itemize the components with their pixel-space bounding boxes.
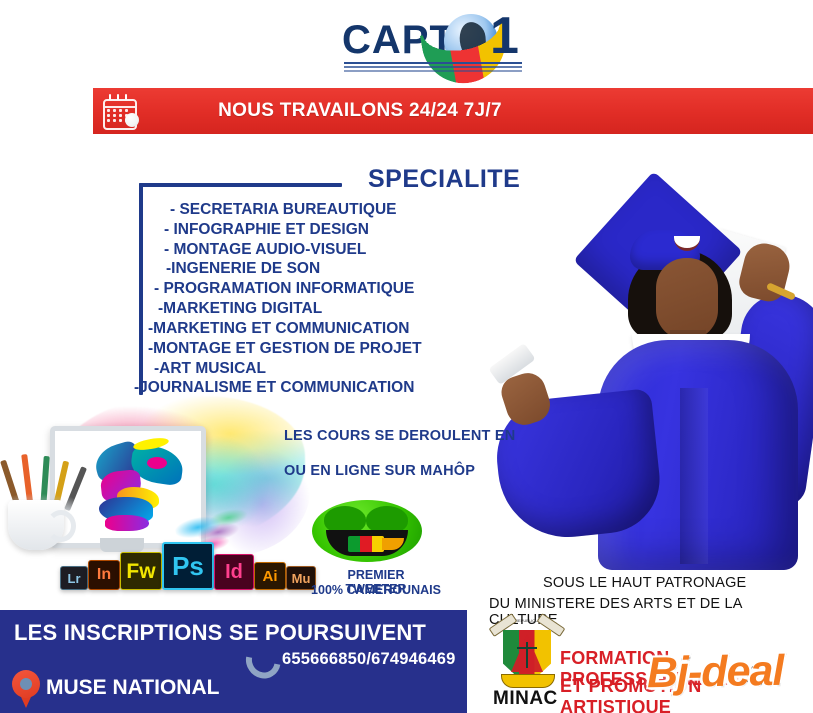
working-hours-banner: NOUS TRAVAILONS 24/24 7J/7 bbox=[93, 88, 813, 134]
graduate-student-photo bbox=[480, 188, 813, 570]
adobe-fireworks-icon: Fw bbox=[120, 552, 162, 590]
adobe-lightroom-icon: Lr bbox=[60, 566, 88, 590]
bj-deal-watermark: Bj-deal bbox=[647, 647, 784, 698]
green-smiley-icon bbox=[312, 500, 422, 562]
course-mode-line2: OU EN LIGNE SUR MAHÔP bbox=[284, 463, 475, 479]
banner-text: NOUS TRAVAILONS 24/24 7J/7 bbox=[137, 100, 813, 122]
poster-canvas: CAPT 1 NOUS TRAVAILONS 24/24 7J/7 SPECIA… bbox=[0, 0, 813, 713]
specialite-left-rule bbox=[139, 183, 143, 395]
list-item: -ART MUSICAL bbox=[154, 359, 476, 379]
list-item: -MONTAGE ET GESTION DE PROJET bbox=[148, 339, 476, 359]
course-mode-line1: LES COURS SE DEROULENT EN bbox=[284, 428, 515, 444]
cameroon-coat-of-arms-icon: REPUBLIQUE MINAC bbox=[489, 616, 565, 710]
tweeter-caption-2: 100% CAMEROUNAIS bbox=[310, 583, 442, 597]
list-item: -MARKETING ET COMMUNICATION bbox=[148, 319, 476, 339]
list-item: -MARKETING DIGITAL bbox=[158, 299, 476, 319]
logo-underline bbox=[344, 62, 522, 74]
adobe-photoshop-icon: Ps bbox=[162, 542, 214, 590]
adobe-illustrator-icon: Ai bbox=[254, 562, 286, 590]
gown-fold bbox=[680, 388, 708, 564]
face bbox=[656, 258, 718, 340]
patronage-line-1: SOUS LE HAUT PATRONAGE bbox=[543, 575, 746, 591]
specialite-list: - SECRETARIA BUREAUTIQUE - INFOGRAPHIE E… bbox=[146, 200, 476, 398]
adobe-apps-strip: Lr In Fw Ps Id Ai Mu bbox=[60, 550, 316, 590]
list-item: - PROGRAMATION INFORMATIQUE bbox=[154, 279, 476, 299]
logo-number: 1 bbox=[490, 10, 519, 62]
list-item: - SECRETARIA BUREAUTIQUE bbox=[170, 200, 476, 220]
footer-title: LES INSCRIPTIONS SE POURSUIVENT bbox=[14, 620, 426, 646]
footer-phone: 655666850/674946469 bbox=[282, 650, 456, 669]
list-item: - INFOGRAPHIE ET DESIGN bbox=[164, 220, 476, 240]
footer-location: MUSE NATIONAL bbox=[46, 676, 219, 700]
list-item: - MONTAGE AUDIO-VISUEL bbox=[164, 240, 476, 260]
specialite-top-rule bbox=[139, 183, 342, 187]
calendar-icon bbox=[103, 95, 137, 127]
adobe-indesign-id-icon: Id bbox=[214, 554, 254, 590]
map-pin-icon bbox=[12, 670, 40, 708]
brand-logo: CAPT 1 bbox=[340, 12, 530, 68]
minac-label: MINAC bbox=[493, 688, 558, 710]
brush-cup-icon bbox=[8, 500, 64, 550]
phone-icon bbox=[241, 638, 275, 672]
list-item: -INGENERIE DE SON bbox=[166, 259, 476, 279]
adobe-indesign-icon: In bbox=[88, 560, 120, 590]
